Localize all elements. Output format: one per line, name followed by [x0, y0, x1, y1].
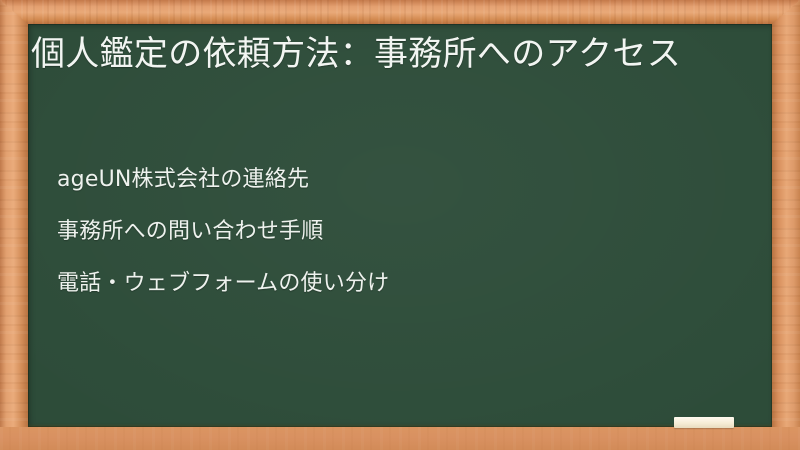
- bullet-list: ageUN株式会社の連絡先 事務所への問い合わせ手順 電話・ウェブフォームの使い…: [57, 154, 747, 310]
- slide-content: 個人鑑定の依頼方法：事務所へのアクセス ageUN株式会社の連絡先 事務所への問…: [28, 24, 772, 427]
- frame-left-rail: [0, 0, 28, 450]
- bullet-item-1: ageUN株式会社の連絡先: [57, 154, 747, 206]
- bullet-item-2: 事務所への問い合わせ手順: [57, 206, 747, 258]
- bullet-item-3: 電話・ウェブフォームの使い分け: [57, 258, 747, 310]
- slide-title: 個人鑑定の依頼方法：事務所へのアクセス: [31, 30, 731, 78]
- chalk-ledge: [0, 427, 800, 450]
- frame-top-rail: [0, 0, 800, 24]
- frame-right-rail: [772, 0, 800, 450]
- chalk-stick: [674, 417, 734, 428]
- chalkboard-slide: 個人鑑定の依頼方法：事務所へのアクセス ageUN株式会社の連絡先 事務所への問…: [0, 0, 800, 450]
